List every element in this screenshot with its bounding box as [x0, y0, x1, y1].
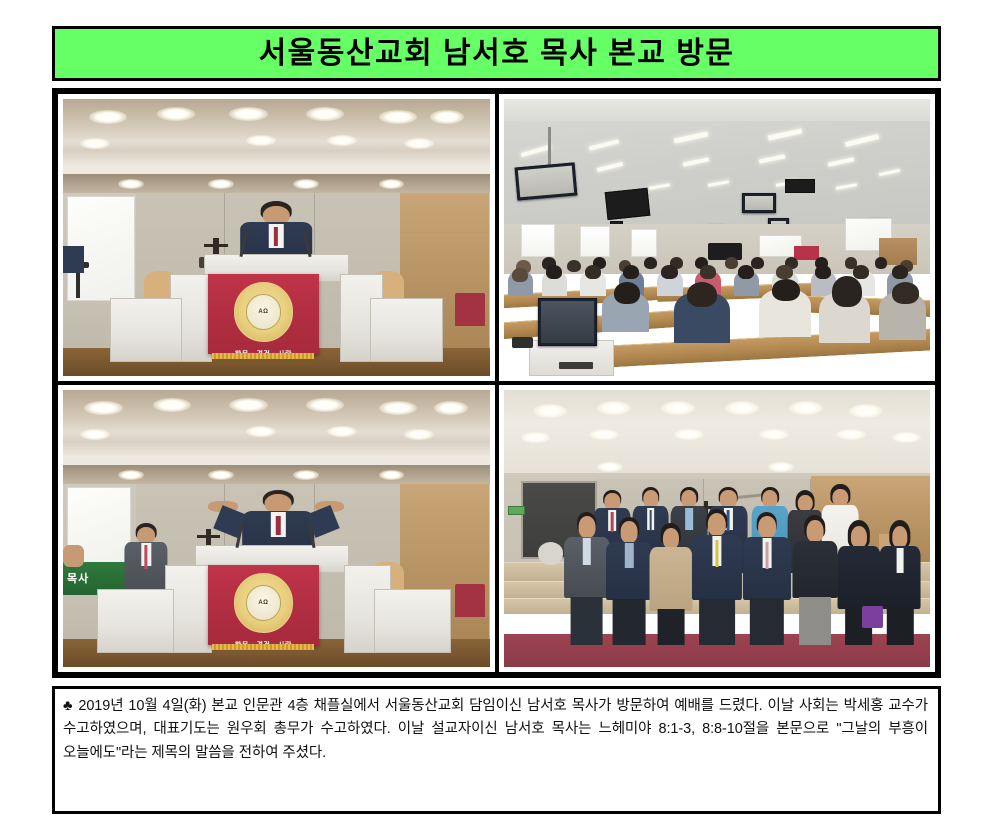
- ceiling-light: [589, 429, 619, 440]
- banner-fringe: [212, 644, 314, 650]
- ceiling-light: [892, 432, 922, 443]
- university-banner: AΩ 학문 · 경건 · 사랑: [208, 274, 319, 354]
- ceiling-light: [379, 401, 417, 415]
- keyboard: [559, 362, 593, 369]
- chapel-pulpit-scene: AΩ 학문 · 경건 · 사랑: [63, 99, 490, 376]
- necktie: [145, 545, 148, 568]
- university-emblem: AΩ: [234, 282, 294, 342]
- necktie: [715, 540, 718, 567]
- photo-pastor-hands-raised: 목사: [58, 385, 495, 672]
- attendee-head: [546, 265, 562, 279]
- caption-text: ♣ 2019년 10월 4일(화) 본교 인문관 4층 채플실에서 서울동산교회…: [63, 695, 928, 765]
- caption-box: ♣ 2019년 10월 4일(화) 본교 인문관 4층 채플실에서 서울동산교회…: [52, 686, 941, 814]
- ceiling-monitor: [515, 163, 577, 201]
- attendee-head: [815, 265, 831, 279]
- ceiling-light: [80, 429, 110, 440]
- attendee-head: [623, 265, 639, 279]
- front-desk-right: [370, 298, 443, 362]
- front-desk-left: [97, 589, 174, 653]
- congregation-scene: [504, 99, 931, 376]
- group-member-front-center: [742, 512, 791, 645]
- attendee-head: [700, 265, 716, 279]
- attendee-head: [567, 260, 581, 273]
- ceiling-light: [118, 179, 144, 189]
- attendee-head: [644, 257, 657, 269]
- emblem-center-symbol: AΩ: [246, 294, 282, 330]
- legs: [570, 597, 603, 645]
- body: [792, 541, 837, 598]
- wood-seam: [400, 232, 490, 233]
- attendee-head: [512, 268, 528, 282]
- cross-icon: [204, 244, 228, 247]
- ceiling-light: [789, 401, 823, 415]
- title-banner: 서울동산교회 남서호 목사 본교 방문: [52, 26, 941, 81]
- ceiling-light: [521, 432, 551, 443]
- window: [580, 226, 610, 256]
- ceiling: [504, 390, 931, 473]
- group-member-front: [563, 512, 610, 645]
- ceiling-edge: [504, 99, 931, 121]
- legs: [750, 598, 784, 645]
- attendee-head: [776, 265, 792, 279]
- ceiling-light: [293, 470, 319, 480]
- window: [521, 224, 555, 257]
- head: [663, 528, 679, 549]
- head: [621, 521, 638, 543]
- group-member-front: [879, 520, 922, 645]
- ceiling-light: [597, 401, 631, 415]
- ceiling-light: [89, 110, 127, 124]
- exit-sign: [508, 506, 525, 514]
- ceiling-light: [208, 179, 234, 189]
- university-emblem: AΩ: [234, 573, 294, 633]
- chair: [455, 584, 485, 617]
- ceiling-light: [836, 429, 866, 440]
- ceiling-light: [229, 107, 267, 121]
- head: [892, 526, 907, 547]
- head: [578, 516, 595, 539]
- ceiling-light: [379, 470, 405, 480]
- necktie: [274, 227, 278, 246]
- ceiling-light: [80, 138, 110, 149]
- ceiling-light: [674, 429, 704, 440]
- attendee-head: [892, 282, 920, 304]
- shirt: [625, 543, 633, 568]
- photo-collage-grid: AΩ 학문 · 경건 · 사랑: [52, 88, 941, 678]
- attendee-head: [853, 265, 869, 279]
- monitor-screen: [541, 301, 595, 342]
- attendee-head: [875, 257, 888, 269]
- front-desk-right: [374, 589, 451, 653]
- window: [631, 229, 657, 257]
- attendee-head: [725, 257, 738, 269]
- console-monitor: [538, 298, 598, 345]
- legs: [657, 609, 684, 644]
- monitor-mount: [548, 127, 551, 166]
- head: [758, 516, 776, 539]
- attendee-head: [738, 265, 754, 279]
- monitor-screen: [745, 196, 773, 209]
- overlay-caption-text: 목사: [67, 570, 89, 586]
- ceiling-monitor: [742, 193, 776, 212]
- wood-seam: [400, 271, 490, 272]
- ceiling-light: [208, 470, 234, 480]
- bag: [862, 606, 883, 628]
- shirt: [582, 538, 590, 565]
- body: [837, 546, 880, 608]
- emblem-center-symbol: AΩ: [246, 585, 282, 621]
- seated-person: [63, 246, 84, 274]
- ceiling-light: [229, 398, 267, 412]
- ceiling-speaker: [605, 188, 650, 220]
- ceiling-speaker: [785, 179, 815, 193]
- electric-fan: [538, 542, 564, 564]
- head: [806, 520, 823, 542]
- ceiling-light: [434, 401, 468, 415]
- ceiling-light: [293, 179, 319, 189]
- ceiling-light: [404, 138, 434, 149]
- front-desk-left: [110, 298, 183, 362]
- microphone: [512, 337, 533, 348]
- stage-step: [504, 581, 572, 598]
- banner-fringe: [212, 353, 314, 359]
- cross-icon: [197, 535, 220, 538]
- attendee-head: [832, 276, 862, 306]
- ceiling-light: [597, 462, 623, 472]
- page-title: 서울동산교회 남서호 목사 본교 방문: [259, 39, 735, 69]
- attendee-head: [585, 265, 601, 279]
- legs: [613, 599, 646, 645]
- attendee-head: [614, 282, 640, 304]
- university-banner: AΩ 학문 · 경건 · 사랑: [208, 565, 319, 645]
- attendee-head: [892, 265, 908, 279]
- ceiling-light: [404, 429, 434, 440]
- ceiling-light: [533, 404, 567, 418]
- grand-piano: [708, 243, 742, 260]
- ceiling-light: [153, 398, 191, 412]
- attendee-head: [772, 279, 800, 301]
- attendee-head: [687, 282, 717, 307]
- ceiling-light: [661, 401, 695, 415]
- ceiling-light: [849, 404, 883, 418]
- photo-congregation-chapel: [499, 94, 936, 381]
- head: [708, 513, 726, 536]
- ceiling-light: [768, 462, 794, 472]
- ceiling-light: [379, 179, 405, 189]
- chair: [455, 293, 485, 326]
- shirt: [897, 548, 904, 573]
- head: [850, 526, 866, 547]
- legs: [799, 597, 831, 645]
- necktie: [276, 516, 280, 535]
- group-member-front: [649, 523, 694, 645]
- photo-report-page: 서울동산교회 남서호 목사 본교 방문: [0, 0, 993, 837]
- chapel-pulpit-raised-scene: 목사: [63, 390, 490, 667]
- pulpit-banner: [794, 246, 820, 260]
- overlay-hand: [63, 545, 84, 567]
- ceiling-light: [379, 110, 417, 124]
- body: [649, 547, 692, 610]
- ceiling-light: [118, 470, 144, 480]
- group-member-front: [791, 515, 838, 645]
- legs: [887, 607, 913, 644]
- legs: [699, 599, 735, 645]
- group-member-front: [606, 517, 653, 644]
- attendee-head: [661, 265, 677, 279]
- necktie: [765, 542, 768, 569]
- ceiling-light: [725, 401, 759, 415]
- photo-group-commemorative: [499, 385, 936, 672]
- group-member-front-center: [691, 509, 742, 645]
- photo-pastor-preaching-pulpit: AΩ 학문 · 경건 · 사랑: [58, 94, 495, 381]
- group-photo-scene: [504, 390, 931, 667]
- ceiling-light: [84, 401, 122, 415]
- monitor-screen: [518, 166, 574, 198]
- ceiling-light: [430, 110, 464, 124]
- ceiling-light: [759, 429, 789, 440]
